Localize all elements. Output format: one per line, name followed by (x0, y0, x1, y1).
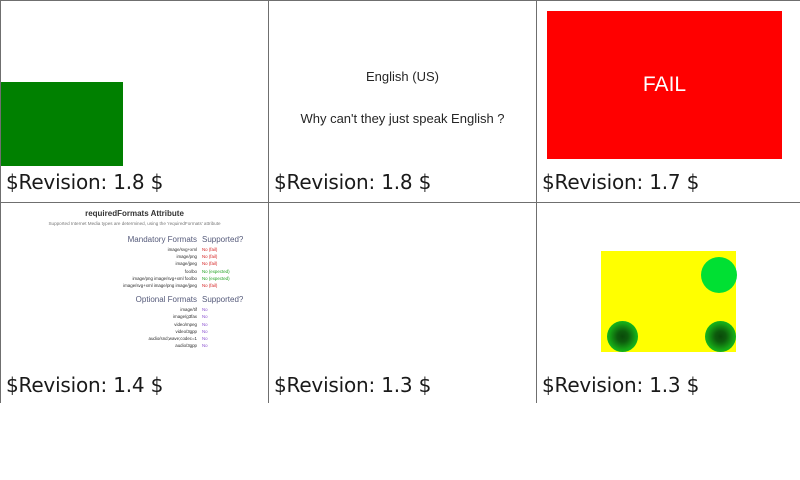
supported-value: No (expected) (197, 268, 262, 275)
format-name: video/mpeg (102, 321, 197, 328)
revision-label: $Revision: 1.7 $ (542, 170, 699, 194)
revision-label: $Revision: 1.3 $ (542, 373, 699, 397)
format-name: image/svg+xml image/png image/jpeg (102, 282, 197, 289)
format-name: image/jpeg (102, 260, 197, 267)
supported-value: No (197, 321, 262, 328)
supported-value: No (fail) (197, 282, 262, 289)
optional-header-format: Optional Formats (102, 295, 197, 304)
test-cell-red-square[interactable]: $Revision: 1.3 $ (269, 203, 536, 405)
table-row: video/mpeg No (1, 321, 262, 328)
table-row: image/g3fax No (1, 313, 262, 320)
green-circle-solid-shape (701, 257, 737, 293)
language-question-text: Why can't they just speak English ? (269, 111, 536, 126)
revision-label: $Revision: 1.8 $ (274, 170, 431, 194)
supported-value: No (197, 335, 262, 342)
green-circle-gradient-shape (607, 321, 638, 352)
test-cell-green-rect[interactable]: $Revision: 1.8 $ (1, 1, 268, 202)
supported-value: No (197, 313, 262, 320)
format-name: audio/3gpp (102, 342, 197, 349)
table-row: foo/bo No (expected) (1, 268, 262, 275)
format-name: audio/snd;wave;codec=1 (102, 335, 197, 342)
table-row: image/png No (fail) (1, 253, 262, 260)
table-row: image/tif No (1, 306, 262, 313)
table-row: image/jpeg No (fail) (1, 260, 262, 267)
green-circle-gradient-shape (705, 321, 736, 352)
table-row: audio/3gpp No (1, 342, 262, 349)
optional-header-supported: Supported? (197, 295, 262, 304)
required-formats-subtitle: Supported Internet Media types are deter… (1, 221, 268, 226)
supported-value: No (fail) (197, 246, 262, 253)
required-formats-title: requiredFormats Attribute (1, 209, 268, 218)
test-cell-radial-gradient[interactable]: $Revision: 1.3 $ (537, 203, 800, 405)
supported-value: No (197, 342, 262, 349)
supported-value: No (expected) (197, 275, 262, 282)
format-name: video/3gpp (102, 328, 197, 335)
supported-value: No (fail) (197, 253, 262, 260)
table-row: image/png image/svg+xml foo/bo No (expec… (1, 275, 262, 282)
optional-header-row: Optional Formats Supported? (1, 295, 262, 304)
green-rectangle-shape (1, 82, 123, 166)
mandatory-header-row: Mandatory Formats Supported? (1, 235, 262, 244)
table-row: image/svg+xml image/png image/jpeg No (f… (1, 282, 262, 289)
supported-value: No (fail) (197, 260, 262, 267)
language-label: English (US) (269, 69, 536, 84)
fail-status-text: FAIL (547, 11, 782, 159)
test-cell-required-formats[interactable]: requiredFormats Attribute Supported Inte… (1, 203, 268, 405)
format-name: image/g3fax (102, 313, 197, 320)
mandatory-header-format: Mandatory Formats (102, 235, 197, 244)
test-cell-system-language[interactable]: English (US) Why can't they just speak E… (269, 1, 536, 202)
required-formats-table: Mandatory Formats Supported? image/svg+x… (1, 235, 262, 349)
format-name: image/svg+xml (102, 246, 197, 253)
mandatory-header-supported: Supported? (197, 235, 262, 244)
format-name: foo/bo (102, 268, 197, 275)
supported-value: No (197, 306, 262, 313)
format-name: image/tif (102, 306, 197, 313)
format-name: image/png (102, 253, 197, 260)
test-cell-fail[interactable]: FAIL $Revision: 1.7 $ (537, 1, 800, 202)
table-row: video/3gpp No (1, 328, 262, 335)
supported-value: No (197, 328, 262, 335)
revision-label: $Revision: 1.4 $ (6, 373, 163, 397)
format-name: image/png image/svg+xml foo/bo (102, 275, 197, 282)
revision-label: $Revision: 1.3 $ (274, 373, 431, 397)
table-row: audio/snd;wave;codec=1 No (1, 335, 262, 342)
table-row: image/svg+xml No (fail) (1, 246, 262, 253)
test-results-grid: $Revision: 1.8 $ English (US) Why can't … (0, 0, 800, 403)
revision-label: $Revision: 1.8 $ (6, 170, 163, 194)
